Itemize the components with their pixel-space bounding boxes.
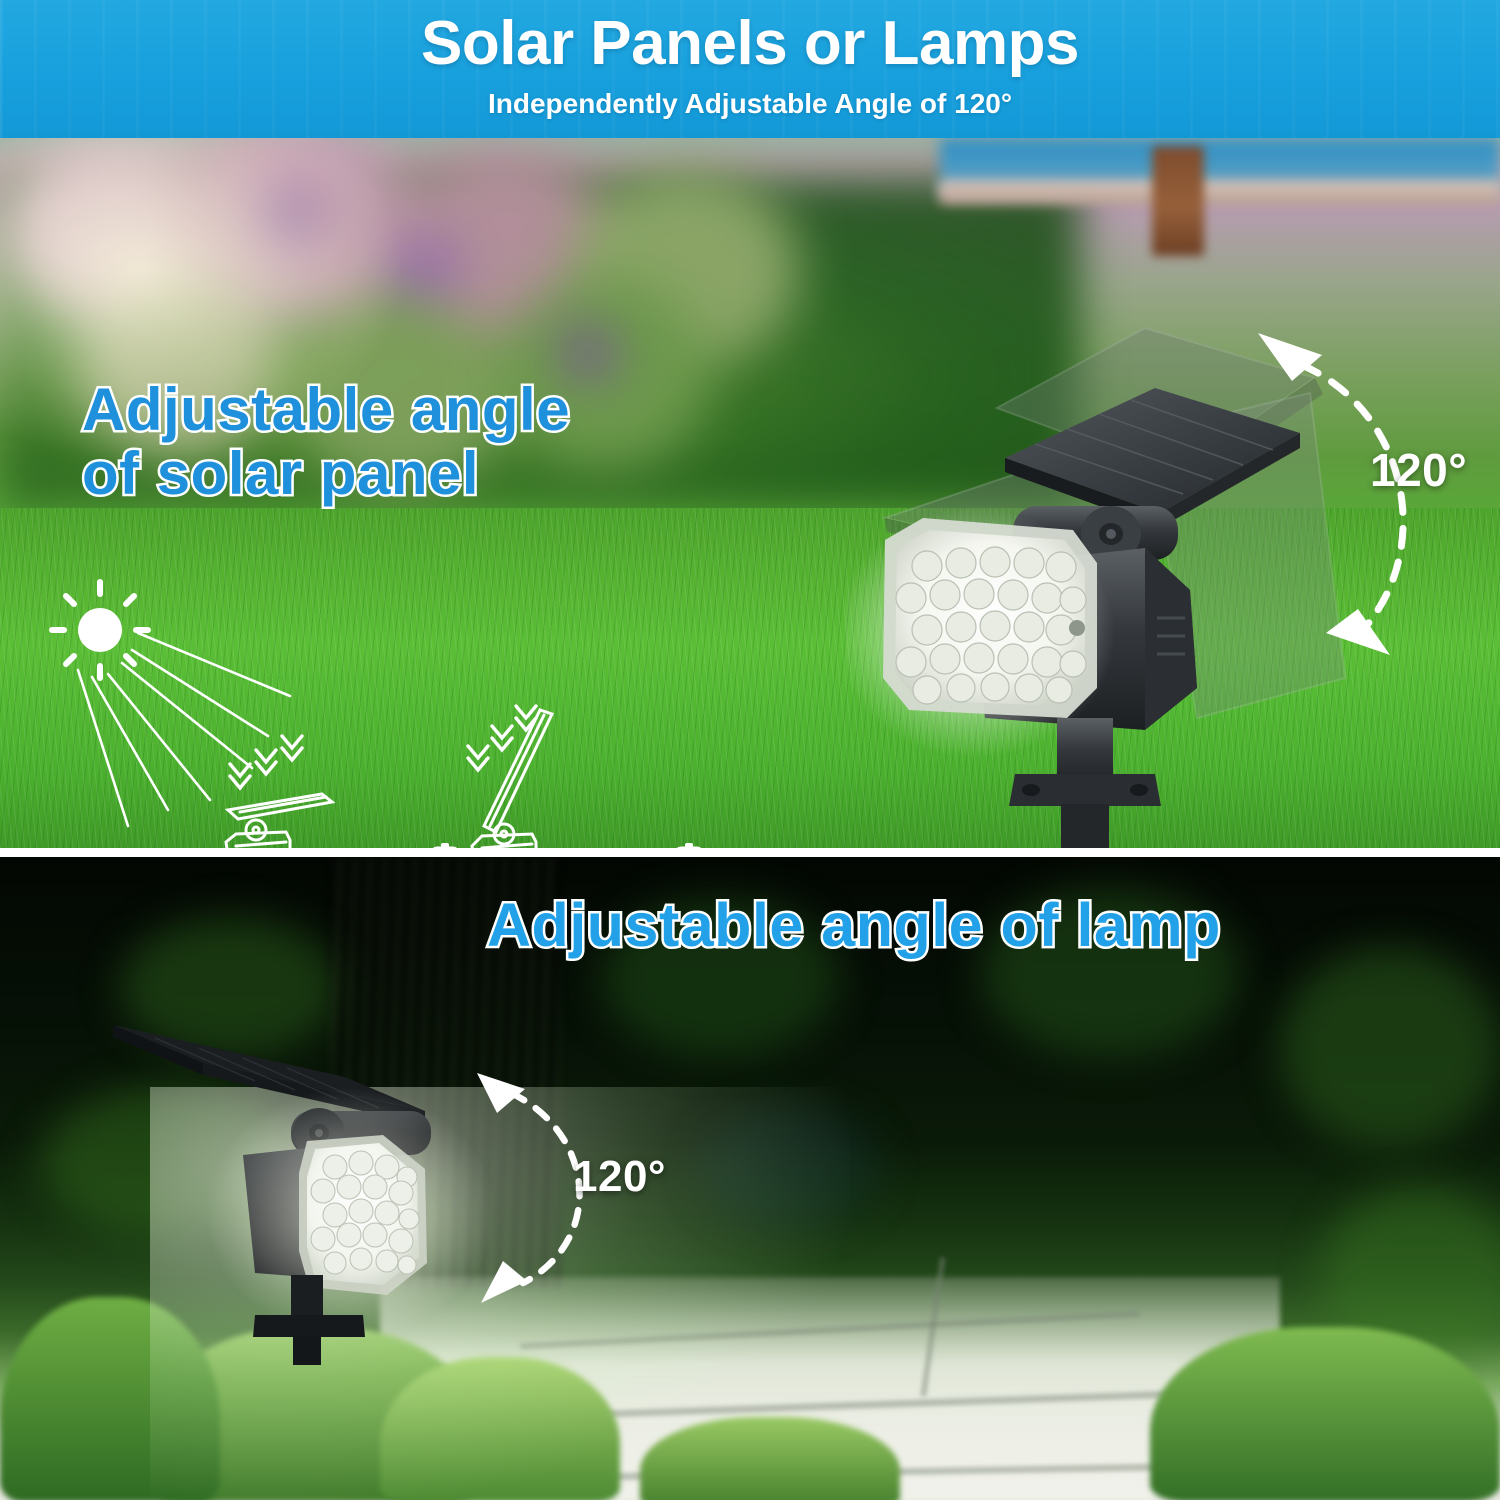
banner-subtitle-angle: 120°	[954, 88, 1012, 119]
arc-dashed-line-bottom	[511, 1093, 580, 1283]
lamp-diagram-flat	[226, 794, 332, 848]
led-head	[883, 518, 1097, 718]
sun-icon	[78, 608, 122, 652]
angle-label-lamp: 120°	[573, 1152, 666, 1202]
banner-subtitle: Independently Adjustable Angle of 120°	[0, 88, 1500, 120]
led-head-night	[299, 1135, 427, 1295]
panel-solar-panel-angle: Adjustable angle of solar panel	[0, 138, 1500, 848]
panel-divider	[0, 848, 1500, 857]
product-infographic: Solar Panels or Lamps Independently Adju…	[0, 0, 1500, 1500]
solar-charging-diagram	[40, 578, 720, 848]
header-banner: Solar Panels or Lamps Independently Adju…	[0, 0, 1500, 138]
charge-chevrons-a	[230, 736, 302, 788]
headline-line-2: of solar panel	[82, 442, 570, 506]
banner-subtitle-prefix: Independently Adjustable Angle of	[488, 88, 954, 119]
background-fence-rail	[940, 182, 1500, 204]
arrowhead-down-icon-bottom	[481, 1261, 527, 1303]
headline-solar-panel: Adjustable angle of solar panel	[82, 378, 570, 506]
headline-line-1: Adjustable angle	[82, 378, 570, 442]
page-title: Solar Panels or Lamps	[0, 8, 1500, 79]
led-array	[896, 547, 1086, 704]
lamp-diagram-tilted	[472, 710, 552, 848]
headline-lamp-angle: Adjustable angle of lamp	[487, 893, 1221, 958]
angle-label-solar-panel: 120°	[1370, 443, 1467, 497]
arrowhead-up-icon-bottom	[477, 1073, 525, 1113]
arrowhead-down-icon	[1326, 609, 1390, 655]
arc-dashed-line	[1302, 365, 1403, 633]
